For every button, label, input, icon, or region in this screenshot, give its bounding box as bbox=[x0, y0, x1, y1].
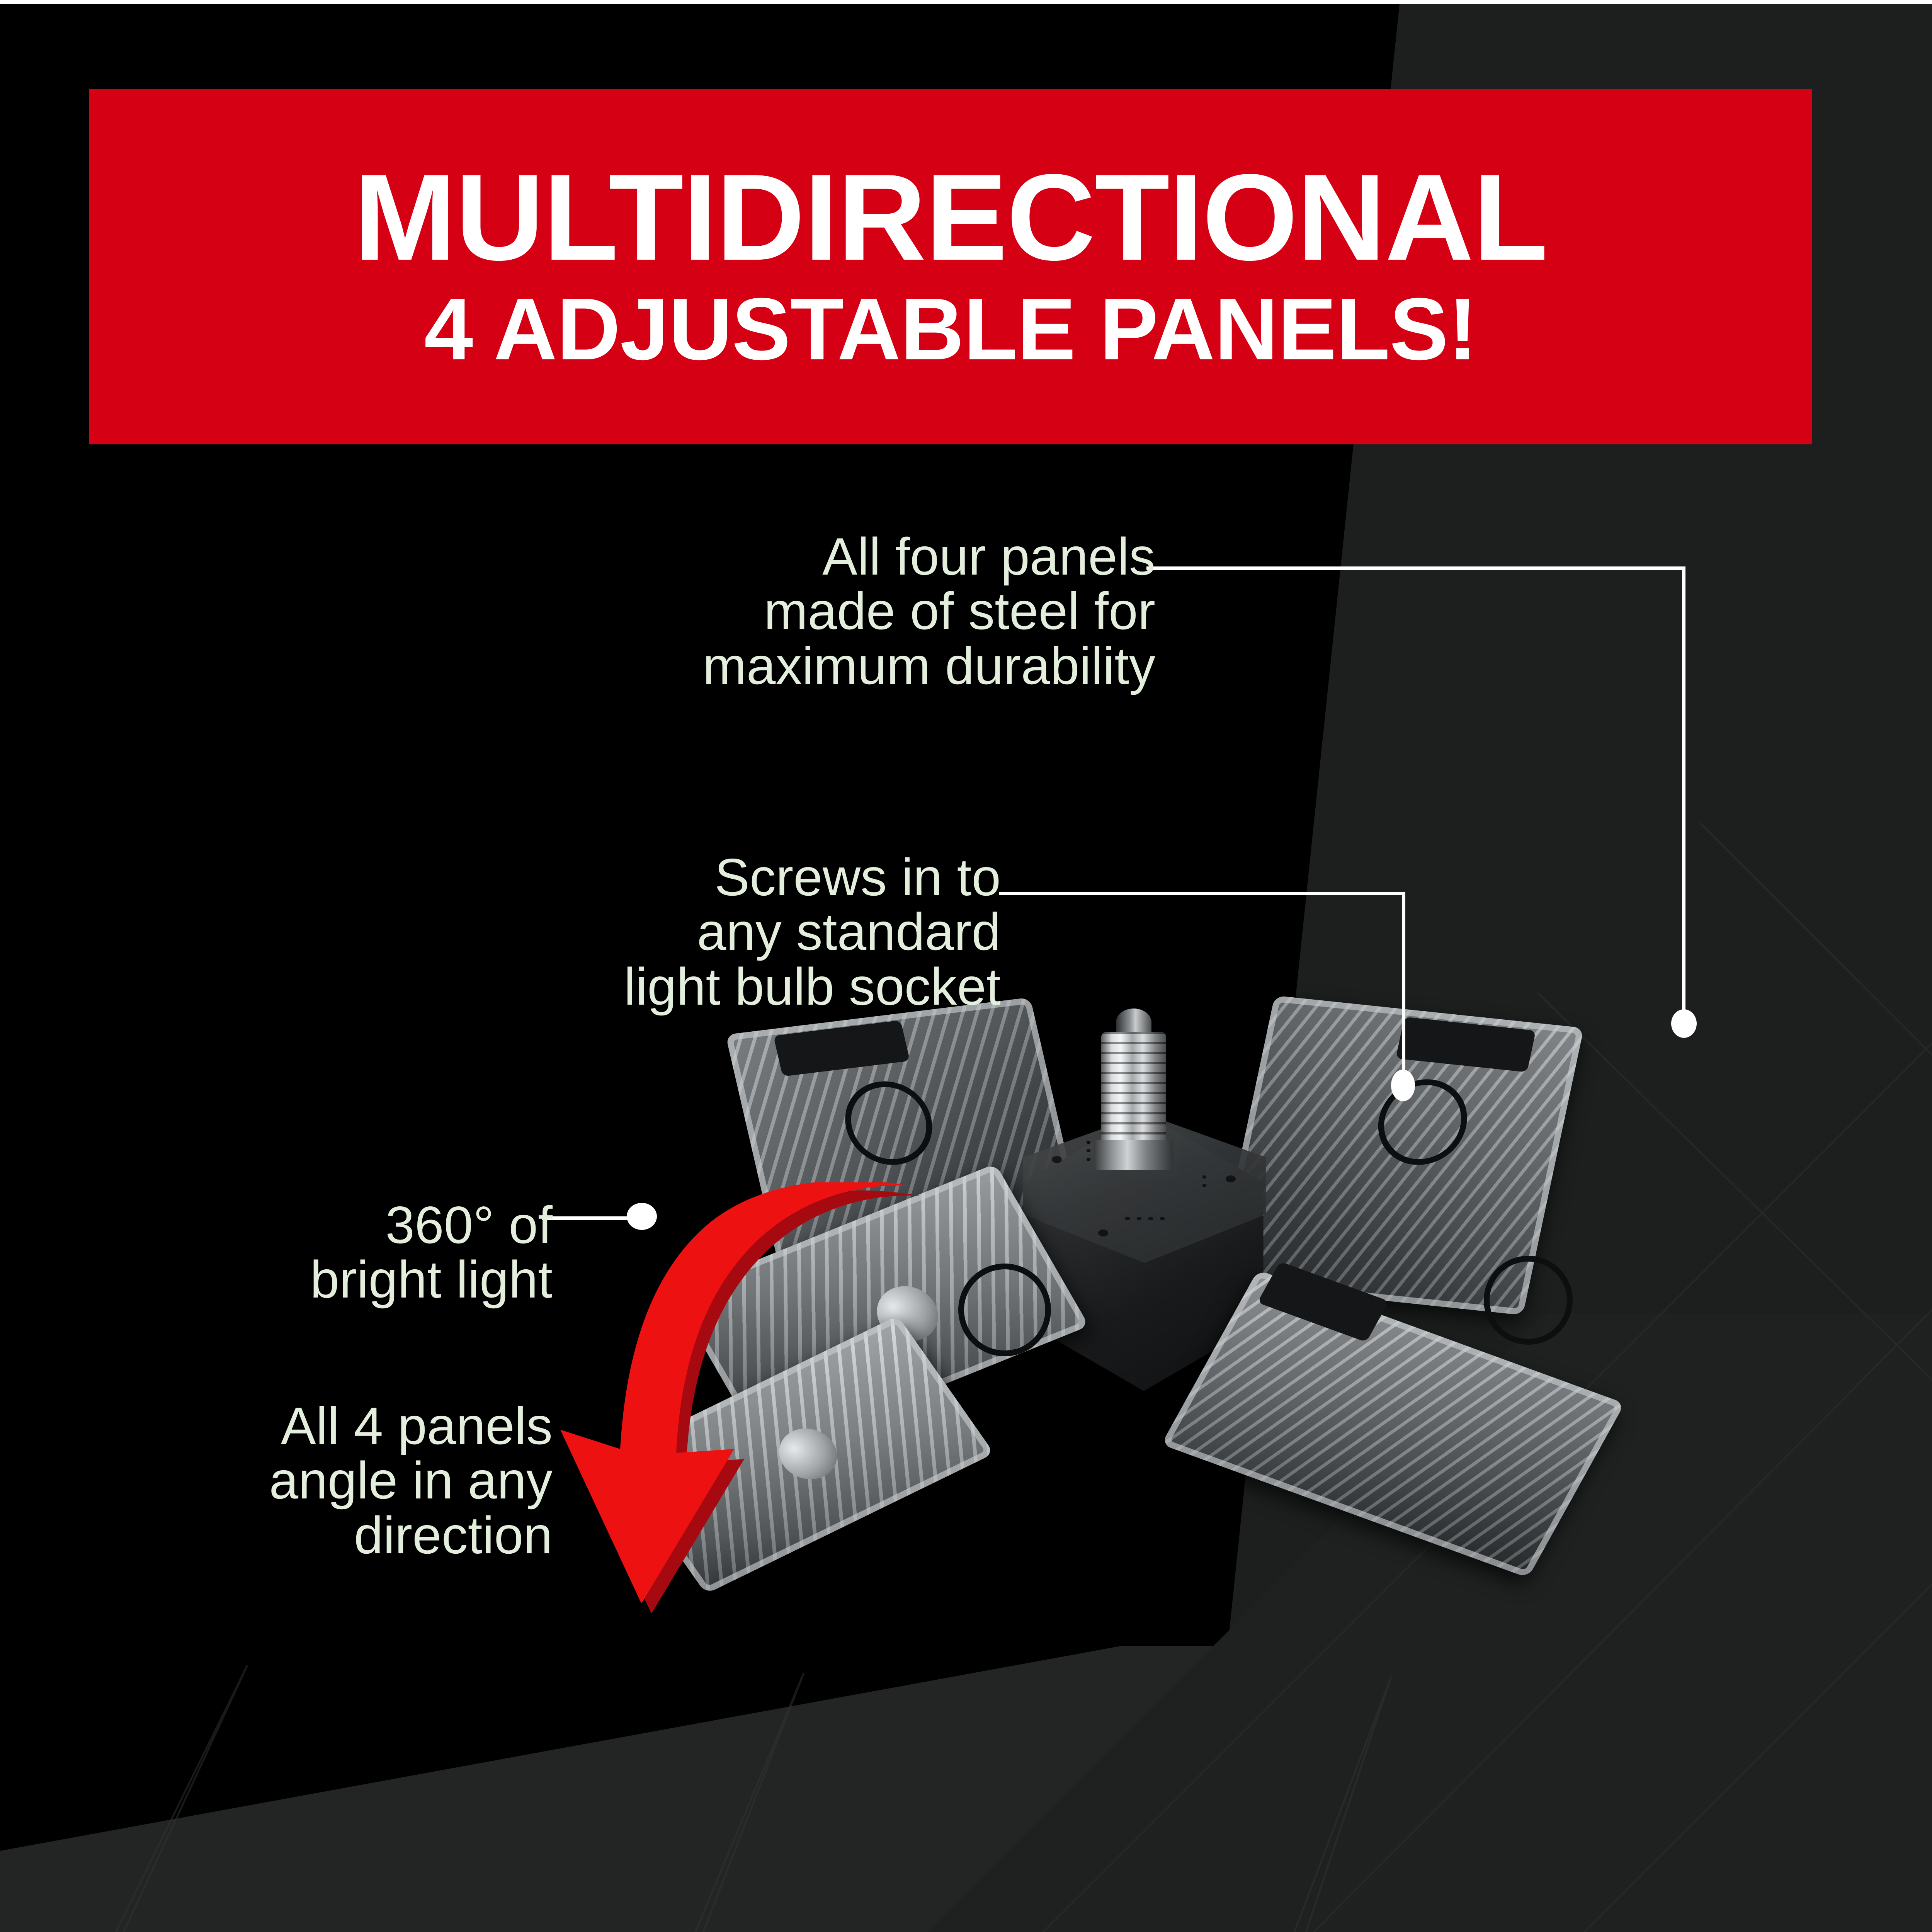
leader-dot-bright-light bbox=[627, 1203, 657, 1230]
hub-vent-slot bbox=[1137, 1217, 1141, 1220]
callout-steel-panels: All four panels made of steel for maximu… bbox=[464, 529, 1155, 693]
callout-bright-light: 360° of bright light bbox=[116, 1198, 553, 1307]
banner-headline-primary: MULTIDIRECTIONAL bbox=[354, 157, 1548, 278]
hub-vent-slot bbox=[1202, 1175, 1206, 1179]
hub-vent-slot bbox=[1087, 1158, 1090, 1161]
leader-line-steel-panels-horizontal bbox=[1146, 566, 1685, 570]
leader-dot-steel-panels bbox=[1671, 1009, 1697, 1038]
leader-dot-socket bbox=[1391, 1070, 1415, 1101]
socket-threads bbox=[1101, 1032, 1166, 1148]
hub-vent-slot bbox=[1125, 1217, 1130, 1220]
rotation-arrow-icon bbox=[553, 1182, 923, 1627]
callout-panel-angle: All 4 panels angle in any direction bbox=[93, 1399, 553, 1563]
hub-screw-hole bbox=[1226, 1175, 1236, 1182]
infographic-canvas: MULTIDIRECTIONAL 4 ADJUSTABLE PANELS! bbox=[0, 0, 1932, 1932]
hub-vent-slot bbox=[1087, 1141, 1090, 1144]
hub-vent-slot bbox=[1160, 1217, 1165, 1220]
banner-headline-secondary: 4 ADJUSTABLE PANELS! bbox=[424, 283, 1477, 376]
hub-screw-hole bbox=[1052, 1156, 1062, 1163]
wire-hoop-front-right bbox=[1484, 1256, 1573, 1345]
hub-vent-slot bbox=[1148, 1217, 1153, 1220]
header-banner: MULTIDIRECTIONAL 4 ADJUSTABLE PANELS! bbox=[89, 89, 1812, 444]
wire-hoop-front-left bbox=[958, 1264, 1051, 1356]
top-white-margin bbox=[0, 0, 1932, 4]
callout-standard-socket: Screws in to any standard light bulb soc… bbox=[410, 850, 1001, 1014]
leader-line-steel-panels-vertical bbox=[1682, 566, 1685, 1026]
product-e26-screw-base bbox=[1101, 1032, 1166, 1148]
leader-line-bright-light bbox=[542, 1216, 635, 1220]
hub-vent-slot bbox=[1087, 1149, 1090, 1152]
socket-collar bbox=[1094, 1140, 1173, 1170]
hub-vent-slot bbox=[1202, 1184, 1206, 1187]
leader-line-socket-horizontal bbox=[999, 892, 1405, 895]
hub-screw-hole bbox=[1098, 1230, 1108, 1236]
leader-line-socket-vertical bbox=[1402, 892, 1405, 1087]
